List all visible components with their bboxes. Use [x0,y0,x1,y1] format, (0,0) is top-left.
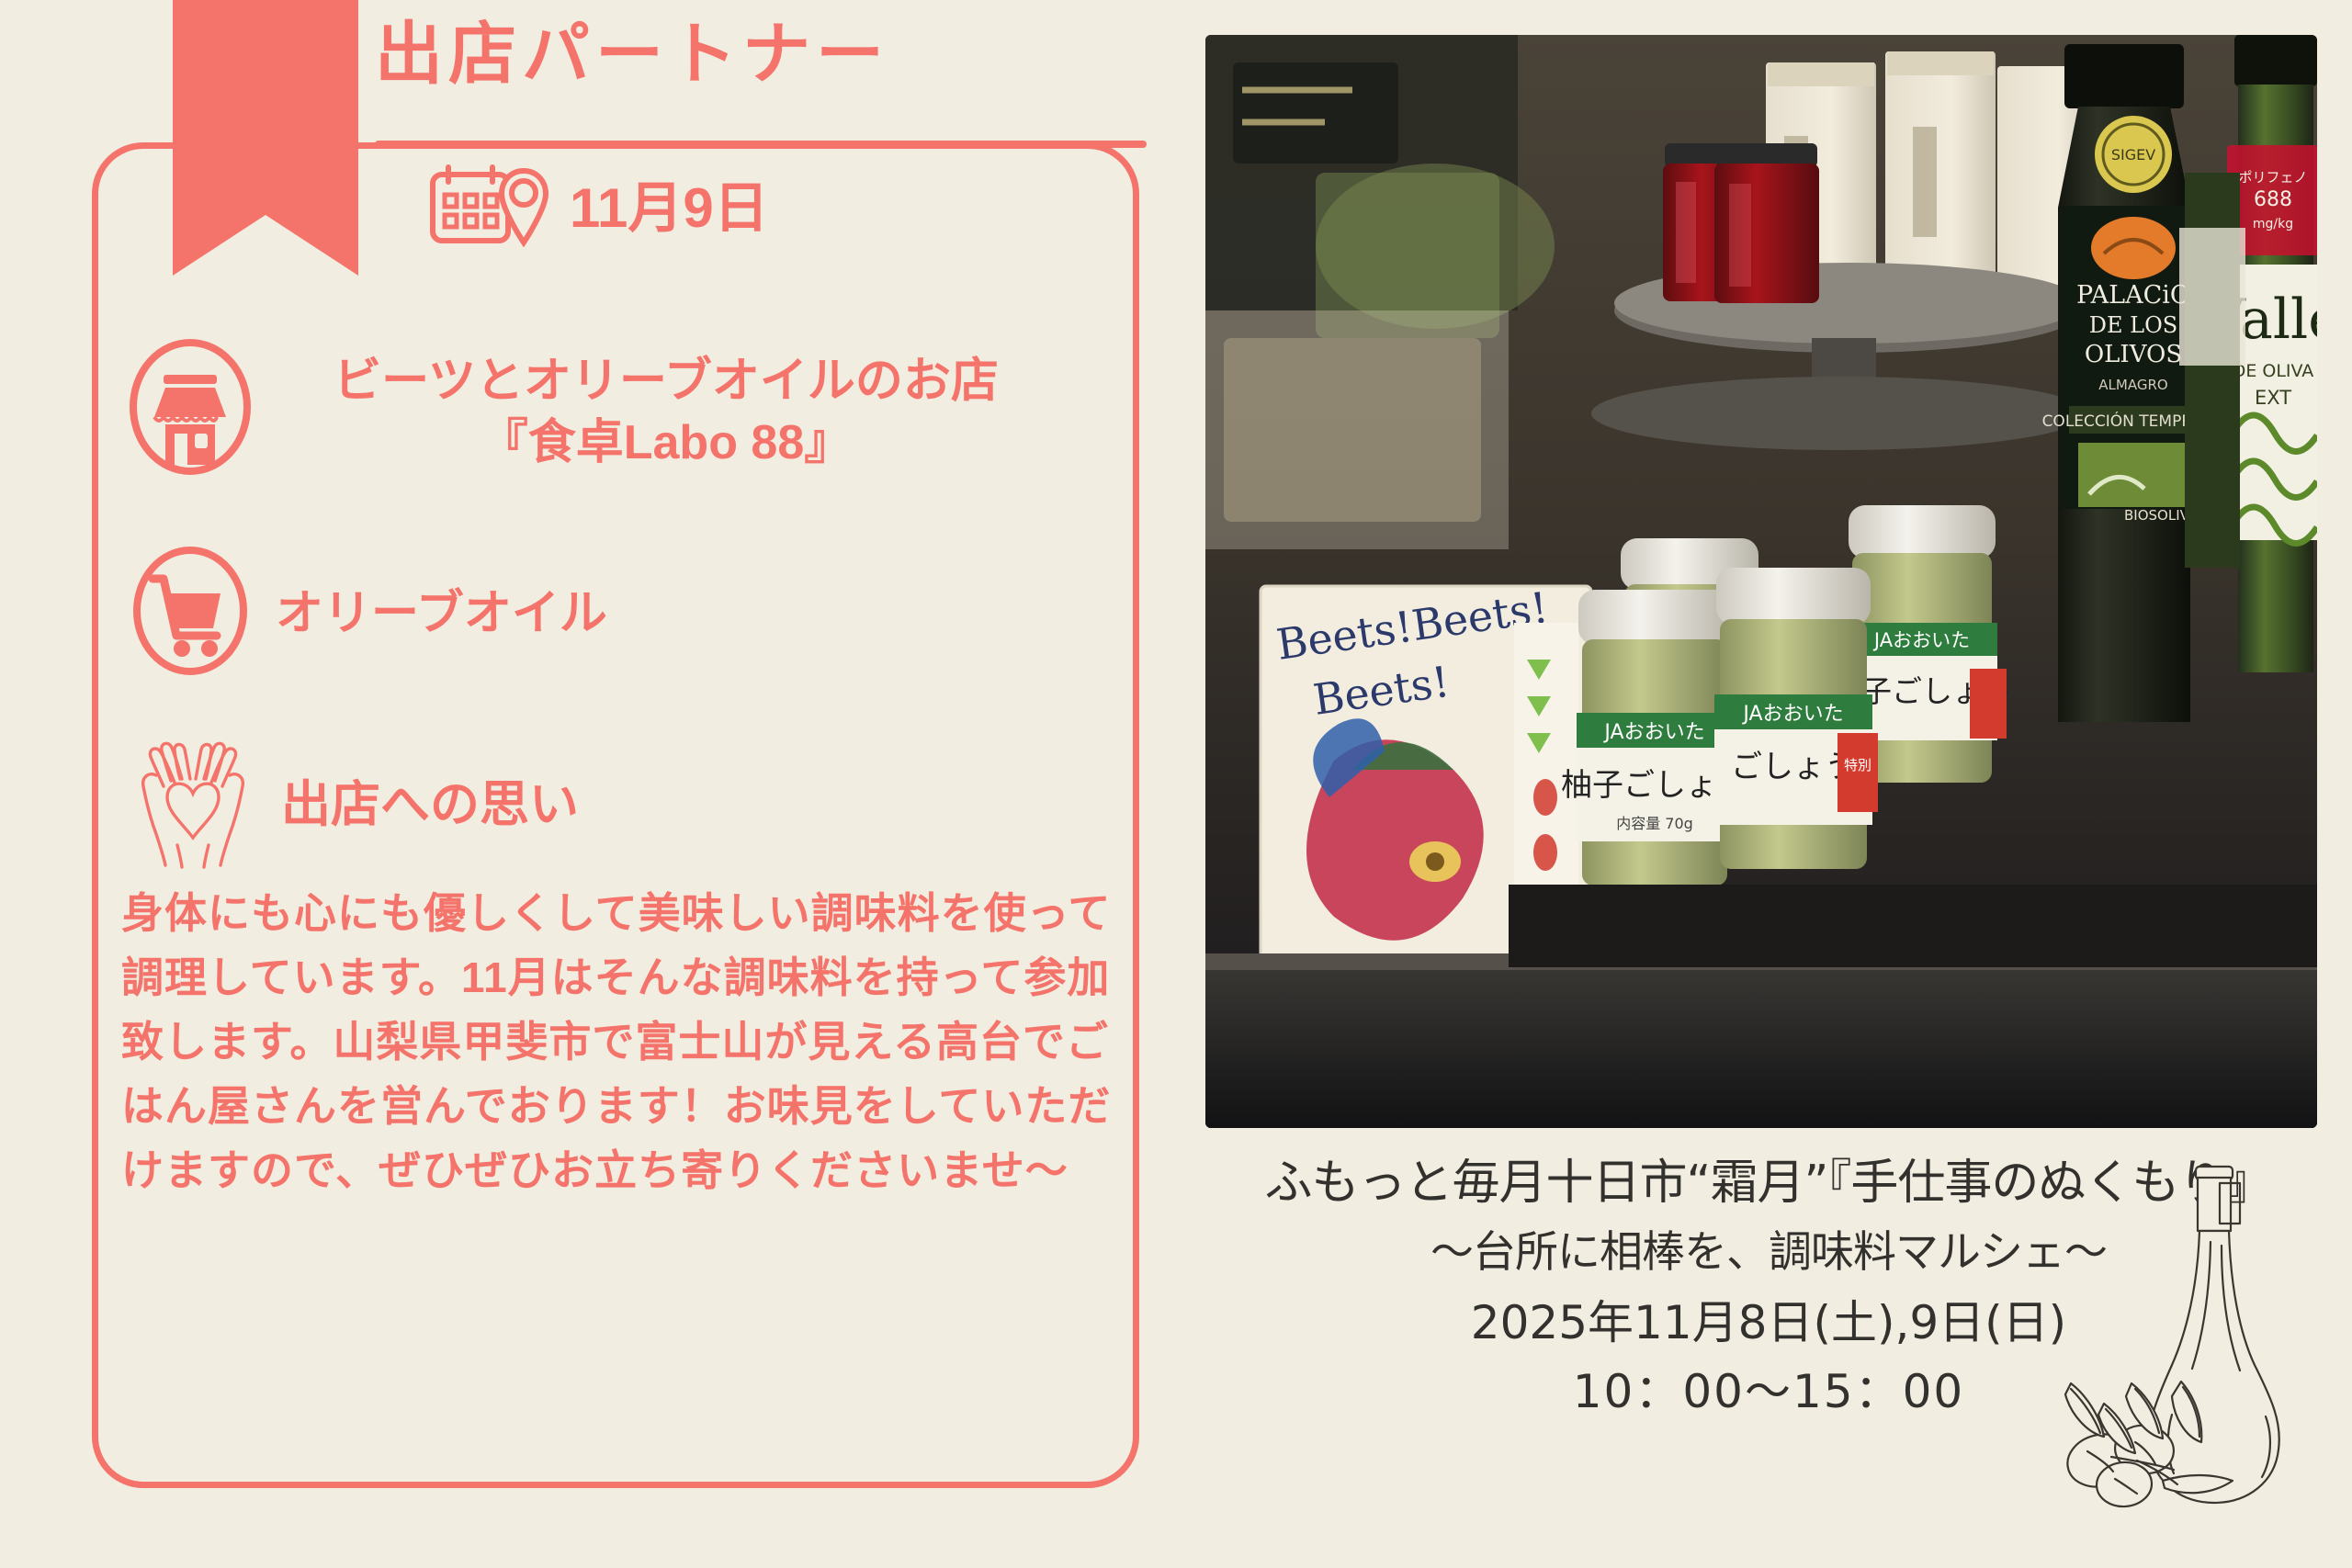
thought-heading-label: 出店への思い [281,780,579,829]
svg-text:OLIVOS: OLIVOS [2085,341,2182,368]
page-title: 出店パートナー [375,17,1110,91]
poster-root: ③ 出店パートナー [0,0,2352,1568]
svg-text:特別: 特別 [1844,757,1871,773]
svg-text:JAおおいた: JAおおいた [1741,703,1843,726]
shopping-cart-icon [129,542,252,684]
ribbon-number-label: ③ [0,29,186,154]
svg-text:PALACiO: PALACiO [2076,281,2190,310]
calendar-location-icon [428,164,553,253]
svg-text:mg/kg: mg/kg [2253,217,2293,231]
event-date-label: 11月9日 [570,181,769,236]
svg-text:EXT: EXT [2255,387,2291,409]
shop-name-line-1: ビーツとオリーブオイルのお店 [334,355,999,408]
product-photo: SIGEV PALACiO DE LOS OLIVOS ALMAGRO COLE… [1205,35,2317,1128]
svg-text:ALMAGRO: ALMAGRO [2098,377,2167,393]
title-divider [375,141,1147,148]
svg-text:SIGEV: SIGEV [2111,146,2155,164]
svg-text:内容量 70g: 内容量 70g [1616,815,1693,832]
svg-text:688: 688 [2254,188,2292,211]
storefront-icon [129,338,252,480]
svg-text:JAおおいた: JAおおいた [1602,721,1704,744]
left-column: ③ 出店パートナー [0,0,1185,1568]
thought-row: 出店への思い [129,735,579,874]
date-row: 11月9日 [428,164,769,253]
thought-body-text: 身体にも心にも優しくして美味しい調味料を使って調理しています。11月はそんな調味… [121,882,1123,1203]
shop-row: ビーツとオリーブオイルのお店 『食卓Labo 88』 [129,338,1121,480]
hands-heart-icon [129,735,257,874]
goods-row: オリーブオイル [129,542,607,684]
svg-text:ポリフェノ: ポリフェノ [2238,169,2307,186]
svg-text:ごしょう: ごしょう [1731,749,1856,785]
page-title-wrap: 出店パートナー [375,17,1110,91]
shop-name-line-2: 『食卓Labo 88』 [276,412,1057,474]
svg-text:DE LOS: DE LOS [2089,312,2177,338]
shop-name-label: ビーツとオリーブオイルのお店 『食卓Labo 88』 [276,338,1057,473]
product-photo-canvas: SIGEV PALACiO DE LOS OLIVOS ALMAGRO COLE… [1205,35,2317,1128]
right-column: SIGEV PALACiO DE LOS OLIVOS ALMAGRO COLE… [1185,0,2352,1568]
svg-text:JAおおいた: JAおおいた [1872,629,1970,651]
goods-label: オリーブオイル [276,590,607,637]
olive-oil-bottle-illustration [2016,1157,2310,1525]
